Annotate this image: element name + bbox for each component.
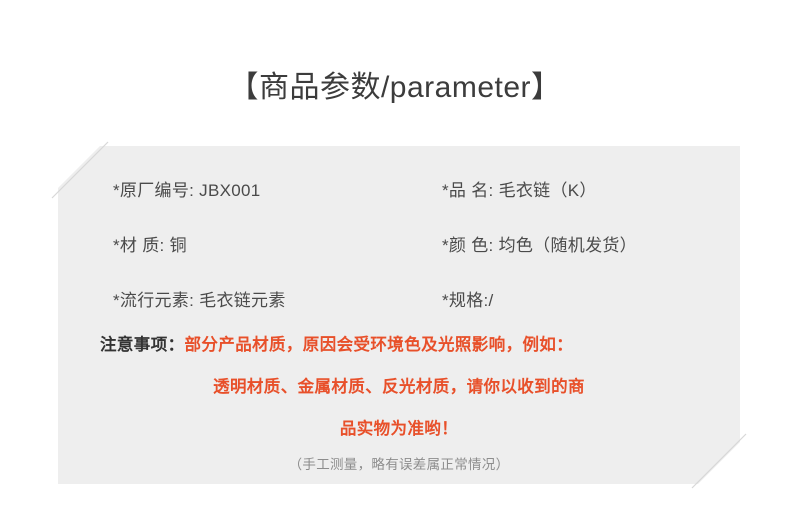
table-row: *流行元素: 毛衣链元素 *规格:/ [58, 286, 740, 312]
notice-text-1: 部分产品材质，原因会受环境色及光照影响，例如： [185, 336, 574, 354]
notice-line-2: 透明材质、金属材质、反光材质，请你以收到的商 [58, 373, 740, 397]
table-row: *原厂编号: JBX001 *品 名: 毛衣链（K） [58, 176, 740, 202]
notice-line-3: 品实物为准哟！ [58, 415, 740, 439]
param-factory-number: *原厂编号: JBX001 [113, 176, 261, 201]
notice-line-1: 注意事项：部分产品材质，原因会受环境色及光照影响，例如： [58, 331, 740, 355]
measurement-footnote: （手工测量，略有误差属正常情况） [58, 453, 740, 473]
table-row: *材 质: 铜 *颜 色: 均色（随机发货） [58, 231, 740, 257]
param-material: *材 质: 铜 [113, 231, 187, 256]
param-product-name: *品 名: 毛衣链（K） [442, 176, 597, 201]
param-specification: *规格:/ [442, 286, 494, 311]
notice-label: 注意事项： [100, 336, 185, 354]
param-color: *颜 色: 均色（随机发货） [442, 231, 637, 256]
product-parameter-page: 【商品参数/parameter】 *原厂编号: JBX001 *品 名: 毛衣链… [0, 0, 790, 527]
parameter-rows: *原厂编号: JBX001 *品 名: 毛衣链（K） *材 质: 铜 *颜 色:… [58, 146, 740, 484]
param-trend-element: *流行元素: 毛衣链元素 [113, 286, 286, 311]
page-title: 【商品参数/parameter】 [0, 62, 790, 106]
